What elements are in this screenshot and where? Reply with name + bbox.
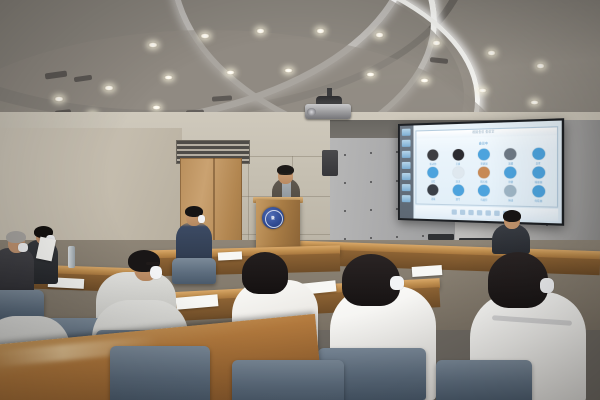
participant-name: 孙健 (508, 180, 513, 184)
participant-name: 林涛 (508, 198, 513, 202)
presenter-glasses-icon (279, 173, 292, 175)
screen-taskbar[interactable] (415, 205, 558, 221)
back-right-hair (503, 210, 521, 222)
participant-avatar (478, 167, 490, 179)
front-center-mask (390, 276, 404, 290)
projector-lens-icon (307, 108, 316, 116)
participant-name: 张娜 (508, 161, 513, 165)
downlight (148, 42, 158, 48)
participant-avatar (452, 149, 463, 161)
downlight (256, 28, 265, 34)
desktop-icon[interactable] (402, 162, 411, 169)
participant-tile[interactable]: 陈老师 (421, 149, 445, 166)
participant-tile[interactable]: 张娜 (498, 148, 524, 166)
participant-tile[interactable]: 林涛 (498, 185, 524, 203)
participant-name: 陈红梅 (480, 179, 487, 183)
taskbar-icon[interactable] (494, 211, 499, 217)
participant-avatar (505, 148, 517, 160)
podium-seal-text: 徽 (262, 215, 284, 220)
desktop-icon[interactable] (402, 173, 411, 180)
participant-tile[interactable]: 孙健 (498, 167, 524, 184)
participant-tile[interactable]: 杨丽丽 (525, 166, 552, 184)
downlight (366, 72, 375, 77)
participant-avatar (532, 185, 545, 197)
desktop-icon[interactable] (402, 140, 411, 147)
downlight (432, 40, 441, 46)
downlight (226, 70, 235, 75)
participant-name: 陈老师 (430, 162, 437, 166)
projection-screen[interactable]: 视频会议 会议室 会议中 陈老师王婷李建国张娜赵明吴晓刘洋陈红梅孙健杨丽丽周强郑… (398, 118, 564, 226)
downlight (104, 85, 114, 91)
participant-tile[interactable]: 郑华 (446, 184, 470, 201)
downlight (164, 75, 173, 80)
mid-row-navy-mask (198, 215, 205, 223)
second-row-right-hair (242, 252, 288, 294)
water-bottle (68, 246, 75, 268)
desktop-icon[interactable] (402, 129, 411, 136)
participant-tile[interactable]: 吴晓 (421, 167, 445, 184)
participant-avatar (532, 148, 545, 160)
participant-tile[interactable]: 李建国 (471, 148, 496, 165)
paper (218, 251, 242, 260)
participant-name: 赵明 (536, 161, 541, 165)
participant-tile[interactable]: 何晓丽 (525, 185, 552, 203)
desktop-icon[interactable] (402, 151, 411, 158)
wall-speaker (322, 150, 338, 176)
participant-avatar (427, 149, 438, 160)
mid-row-navy-attendee (176, 222, 212, 262)
participant-avatar (478, 185, 490, 197)
participant-avatar (427, 184, 438, 195)
desktop-icon-strip (400, 125, 414, 218)
downlight (284, 68, 293, 73)
downlight (54, 96, 64, 102)
downlight (530, 100, 539, 105)
participant-avatar (478, 149, 490, 161)
desktop-icon[interactable] (402, 184, 411, 191)
window-title: 视频会议 会议室 (472, 130, 494, 135)
participant-name: 吴晓 (431, 179, 435, 183)
participant-avatar (452, 167, 463, 179)
conference-room-photo: 视频会议 会议室 会议中 陈老师王婷李建国张娜赵明吴晓刘洋陈红梅孙健杨丽丽周强郑… (0, 0, 600, 400)
video-conference-window[interactable]: 视频会议 会议室 会议中 陈老师王婷李建国张娜赵明吴晓刘洋陈红梅孙健杨丽丽周强郑… (415, 126, 558, 208)
participant-name: 王婷 (456, 162, 461, 166)
downlight (152, 105, 161, 110)
participant-tile[interactable]: 王婷 (446, 149, 470, 166)
participant-grid: 陈老师王婷李建国张娜赵明吴晓刘洋陈红梅孙健杨丽丽周强郑华马淑芬林涛何晓丽 (421, 148, 552, 201)
taskbar-icon[interactable] (485, 210, 490, 215)
participant-tile[interactable]: 马淑芬 (471, 185, 496, 202)
taskbar-icon[interactable] (476, 210, 481, 215)
participant-tile[interactable]: 陈红梅 (471, 167, 496, 184)
chair[interactable] (232, 360, 344, 400)
participant-tile[interactable]: 刘洋 (446, 167, 470, 184)
participant-avatar (427, 167, 438, 178)
front-right-mask (540, 278, 554, 293)
desktop-icon[interactable] (402, 195, 411, 202)
meeting-status-label: 会议中 (479, 141, 488, 145)
participant-name: 何晓丽 (535, 198, 543, 203)
participant-avatar (532, 166, 545, 178)
participant-name: 杨丽丽 (535, 180, 543, 184)
screen-content: 视频会议 会议室 会议中 陈老师王婷李建国张娜赵明吴晓刘洋陈红梅孙健杨丽丽周强郑… (400, 121, 562, 224)
chair[interactable] (436, 360, 532, 400)
participant-avatar (505, 167, 517, 179)
downlight (478, 88, 487, 93)
downlight (316, 28, 325, 34)
side-left-elder-hair (6, 231, 26, 243)
second-row-left-mask (150, 266, 162, 279)
participant-name: 周强 (431, 197, 435, 201)
chair[interactable] (110, 346, 210, 400)
downlight (420, 78, 429, 83)
participant-tile[interactable]: 周强 (421, 184, 445, 201)
front-right-hair (488, 252, 548, 308)
participant-name: 李建国 (480, 161, 487, 165)
downlight (487, 50, 496, 56)
participant-avatar (505, 185, 517, 197)
downlight (375, 32, 384, 38)
paper (412, 265, 443, 277)
participant-tile[interactable]: 赵明 (525, 148, 552, 166)
downlight (536, 63, 545, 69)
participant-name: 郑华 (456, 197, 461, 201)
participant-name: 马淑芬 (480, 197, 487, 201)
taskbar-icon[interactable] (451, 209, 456, 214)
side-left-elder-mask (18, 243, 28, 252)
glasses-icon (146, 262, 160, 265)
chair[interactable] (172, 258, 216, 284)
participant-avatar (452, 184, 463, 196)
taskbar-icon[interactable] (468, 210, 473, 215)
participant-name: 刘洋 (456, 179, 461, 183)
downlight (200, 33, 210, 39)
taskbar-icon[interactable] (459, 210, 464, 215)
